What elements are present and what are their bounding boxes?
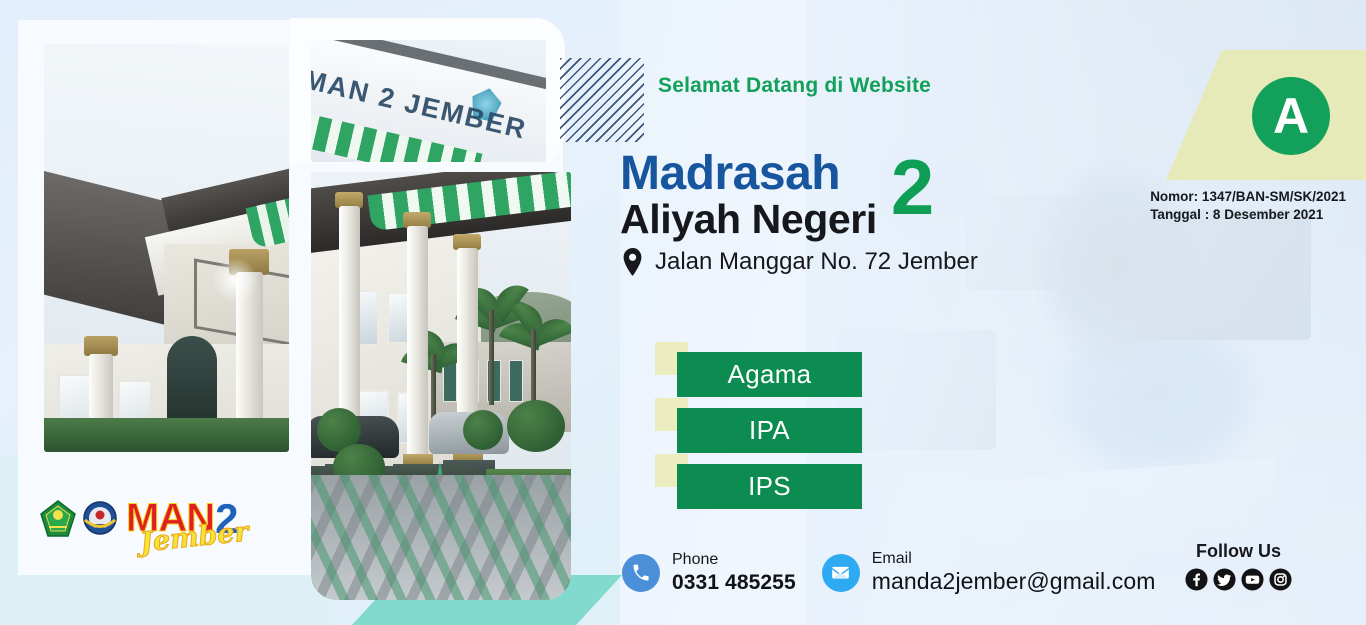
program-label[interactable]: IPS bbox=[677, 464, 862, 509]
title-number: 2 bbox=[891, 156, 934, 218]
email-value: manda2jember@gmail.com bbox=[872, 568, 1156, 594]
phone-label: Phone bbox=[672, 551, 718, 568]
facebook-icon[interactable] bbox=[1185, 568, 1208, 591]
school-address: Jalan Manggar No. 72 Jember bbox=[622, 248, 978, 276]
school-banner: MAN 2 JEMBER bbox=[0, 0, 1366, 625]
contact-phone[interactable]: Phone 0331 485255 bbox=[622, 551, 796, 595]
school-logo: MAN 2 Jember bbox=[40, 498, 238, 540]
accreditation-nomor: Nomor: 1347/BAN-SM/SK/2021 bbox=[1150, 188, 1346, 206]
accreditation-tanggal: Tanggal : 8 Desember 2021 bbox=[1150, 206, 1346, 224]
phone-icon bbox=[622, 554, 660, 592]
kemenag-emblem bbox=[40, 500, 76, 538]
photo-school-entrance bbox=[311, 172, 571, 600]
page-title: Madrasah Aliyah Negeri 2 bbox=[620, 150, 934, 241]
instagram-icon[interactable] bbox=[1269, 568, 1292, 591]
social-section: Follow Us bbox=[1185, 541, 1292, 591]
title-line-1: Madrasah bbox=[620, 150, 877, 197]
program-label[interactable]: IPA bbox=[677, 408, 862, 453]
follow-us-title: Follow Us bbox=[1185, 541, 1292, 562]
location-pin-icon bbox=[622, 248, 644, 276]
address-text: Jalan Manggar No. 72 Jember bbox=[655, 248, 978, 276]
photo-school-sign: MAN 2 JEMBER bbox=[311, 40, 546, 162]
tutwuri-emblem bbox=[82, 500, 118, 538]
diagonal-hatch-decoration bbox=[560, 58, 644, 142]
program-label[interactable]: Agama bbox=[677, 352, 862, 397]
email-label: Email bbox=[872, 550, 912, 567]
contact-email[interactable]: Email manda2jember@gmail.com bbox=[822, 550, 1156, 596]
welcome-text: Selamat Datang di Website bbox=[658, 74, 931, 98]
accreditation-grade-badge: A bbox=[1252, 77, 1330, 155]
photo-building-roof bbox=[44, 44, 289, 452]
title-line-2: Aliyah Negeri bbox=[620, 199, 877, 241]
youtube-icon[interactable] bbox=[1241, 568, 1264, 591]
contact-bar: Phone 0331 485255 Email manda2jember@gma… bbox=[622, 550, 1156, 596]
accreditation-details: Nomor: 1347/BAN-SM/SK/2021 Tanggal : 8 D… bbox=[1150, 188, 1346, 224]
twitter-icon[interactable] bbox=[1213, 568, 1236, 591]
phone-value: 0331 485255 bbox=[672, 571, 796, 594]
email-icon bbox=[822, 554, 860, 592]
